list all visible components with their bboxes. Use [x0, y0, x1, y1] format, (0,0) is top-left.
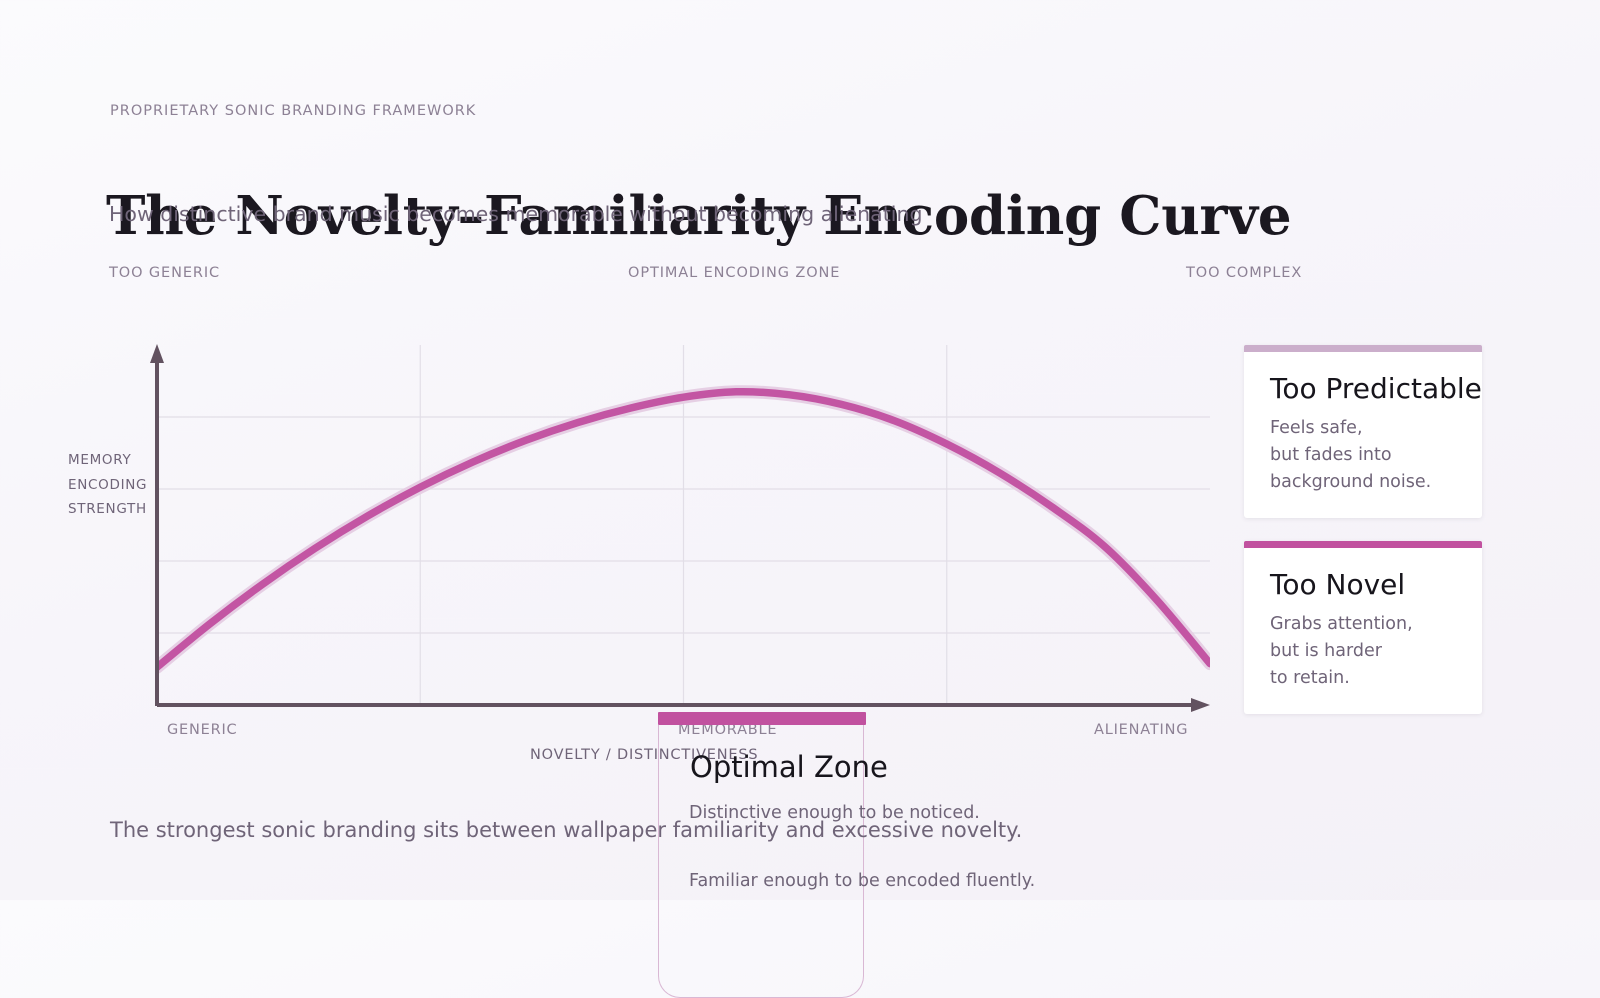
encoding-curve-chart: MEMORY ENCODING STRENGTH GENERIC MEMORAB… [60, 330, 1230, 780]
card-too-novel[interactable]: Too Novel Grabs attention, but is harder… [1244, 541, 1482, 714]
zone-label-optimal-encoding-zone: OPTIMAL ENCODING ZONE [628, 265, 840, 281]
optimal-zone-title: Optimal Zone [690, 750, 888, 784]
y-axis-label: MEMORY ENCODING STRENGTH [68, 448, 147, 522]
y-axis-label-line-2: ENCODING [68, 473, 147, 498]
page-subtitle: How distinctive brand music becomes memo… [109, 202, 922, 226]
y-axis-label-line-1: MEMORY [68, 448, 147, 473]
card-title: Too Predictable [1270, 372, 1458, 405]
card-body: Too Novel Grabs attention, but is harder… [1244, 548, 1482, 714]
eyebrow-label: PROPRIETARY SONIC BRANDING FRAMEWORK [110, 103, 476, 119]
zone-label-too-complex: TOO COMPLEX [1186, 265, 1302, 281]
optimal-zone-text-2: Familiar enough to be encoded fluently. [689, 868, 1035, 894]
x-tick-generic: GENERIC [167, 722, 237, 738]
card-title: Too Novel [1270, 568, 1458, 601]
y-axis-label-line-3: STRENGTH [68, 497, 147, 522]
card-accent-bar [1244, 345, 1482, 352]
card-description: Feels safe, but fades into background no… [1270, 415, 1458, 496]
card-body: Too Predictable Feels safe, but fades in… [1244, 352, 1482, 518]
optimal-zone-cap-bar [658, 712, 866, 725]
chart-canvas [60, 330, 1230, 730]
card-description: Grabs attention, but is harder to retain… [1270, 611, 1458, 692]
zone-label-too-generic: TOO GENERIC [109, 265, 220, 281]
card-accent-bar [1244, 541, 1482, 548]
footer-caption: The strongest sonic branding sits betwee… [110, 818, 1022, 842]
optimal-zone-callout: Optimal Zone Distinctive enough to be no… [658, 712, 866, 725]
card-too-predictable[interactable]: Too Predictable Feels safe, but fades in… [1244, 345, 1482, 518]
y-axis [150, 344, 164, 706]
x-tick-alienating: ALIENATING [1094, 722, 1188, 738]
